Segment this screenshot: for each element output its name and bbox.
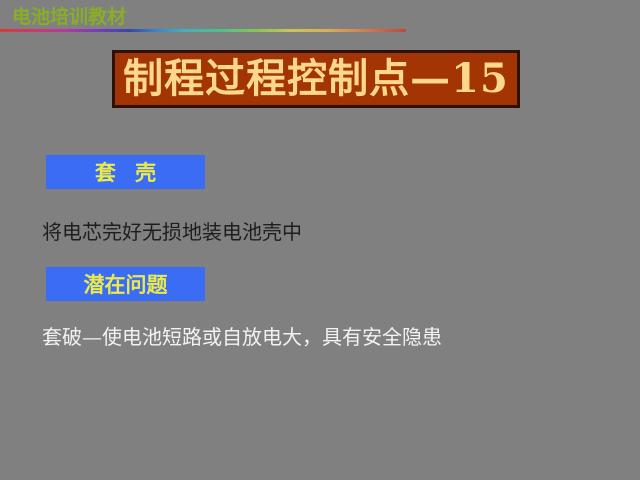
slide-canvas: 电池培训教材 制程过程控制点—15 套 壳 将电芯完好无损地装电池壳中 潜在问题… [0, 0, 640, 480]
page-title: 制程过程控制点—15 [123, 59, 509, 99]
section-body-text-1: 将电芯完好无损地装电池壳中 [42, 219, 302, 245]
section-heading-label-1: 套 壳 [89, 162, 162, 183]
section-body-text-2: 套破—使电池短路或自放电大，具有安全隐患 [42, 324, 442, 350]
section-heading-plaque-2: 潜在问题 [46, 267, 205, 301]
rainbow-divider-icon [0, 29, 406, 32]
course-header-label: 电池培训教材 [12, 5, 126, 29]
slide-title-plaque: 制程过程控制点—15 [112, 50, 520, 108]
section-heading-label-2: 潜在问题 [84, 274, 168, 295]
section-heading-plaque-1: 套 壳 [46, 155, 205, 189]
